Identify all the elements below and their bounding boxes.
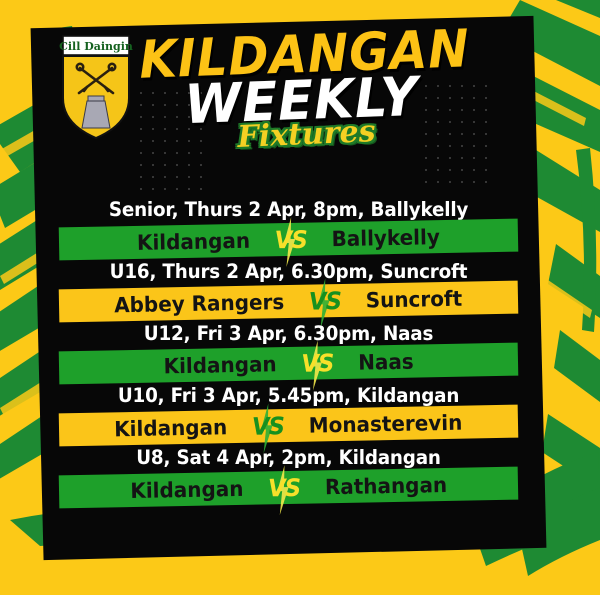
home-team: Abbey Rangers: [114, 290, 284, 317]
away-team: Monasterevin: [309, 410, 463, 437]
versus-label: VS: [252, 412, 285, 441]
versus-group: VS: [264, 473, 304, 502]
fixture-row: U16, Thurs 2 Apr, 6.30pm, SuncroftAbbey …: [37, 260, 540, 318]
fixture-banner: KildanganVSNaas: [37, 342, 541, 385]
fixture-banner: KildanganVSRathangan: [37, 466, 541, 509]
versus-label: VS: [275, 225, 308, 254]
fixture-row: U8, Sat 4 Apr, 2pm, KildanganKildanganVS…: [37, 446, 540, 504]
fixture-teams: KildanganVSNaas: [163, 347, 414, 380]
fixture-banner: Abbey RangersVSSuncroft: [37, 280, 541, 323]
fixture-row: U12, Fri 3 Apr, 6.30pm, NaasKildanganVSN…: [37, 322, 540, 380]
fixture-row: U10, Fri 3 Apr, 5.45pm, KildanganKildang…: [37, 384, 540, 442]
fixture-teams: KildanganVSBallykelly: [137, 223, 440, 257]
versus-group: VS: [305, 286, 345, 315]
fixture-details: U16, Thurs 2 Apr, 6.30pm, Suncroft: [52, 260, 525, 283]
away-team: Naas: [358, 349, 414, 374]
versus-group: VS: [271, 225, 311, 254]
home-team: Kildangan: [163, 352, 276, 378]
home-team: Kildangan: [137, 228, 250, 254]
fixtures-poster: Cill Daingin KILDANGAN WEEKLY: [0, 0, 600, 595]
home-team: Kildangan: [114, 415, 227, 441]
versus-group: VS: [297, 349, 337, 378]
away-team: Rathangan: [324, 472, 447, 498]
fixtures-list: Senior, Thurs 2 Apr, 8pm, BallykellyKild…: [37, 198, 540, 508]
versus-group: VS: [248, 412, 288, 441]
versus-label: VS: [309, 286, 342, 315]
versus-label: VS: [301, 349, 334, 378]
away-team: Ballykelly: [331, 225, 440, 251]
black-content-panel: Cill Daingin KILDANGAN WEEKLY: [31, 16, 547, 560]
poster-title-block: KILDANGAN WEEKLY Fixtures: [37, 32, 540, 150]
fixture-banner: KildanganVSBallykelly: [37, 218, 541, 261]
fixture-details: U10, Fri 3 Apr, 5.45pm, Kildangan: [52, 384, 525, 407]
away-team: Suncroft: [366, 286, 463, 312]
fixture-details: U12, Fri 3 Apr, 6.30pm, Naas: [52, 322, 525, 345]
home-team: Kildangan: [130, 476, 243, 502]
versus-label: VS: [268, 473, 301, 502]
fixture-row: Senior, Thurs 2 Apr, 8pm, BallykellyKild…: [37, 198, 540, 256]
fixture-banner: KildanganVSMonasterevin: [37, 404, 541, 447]
